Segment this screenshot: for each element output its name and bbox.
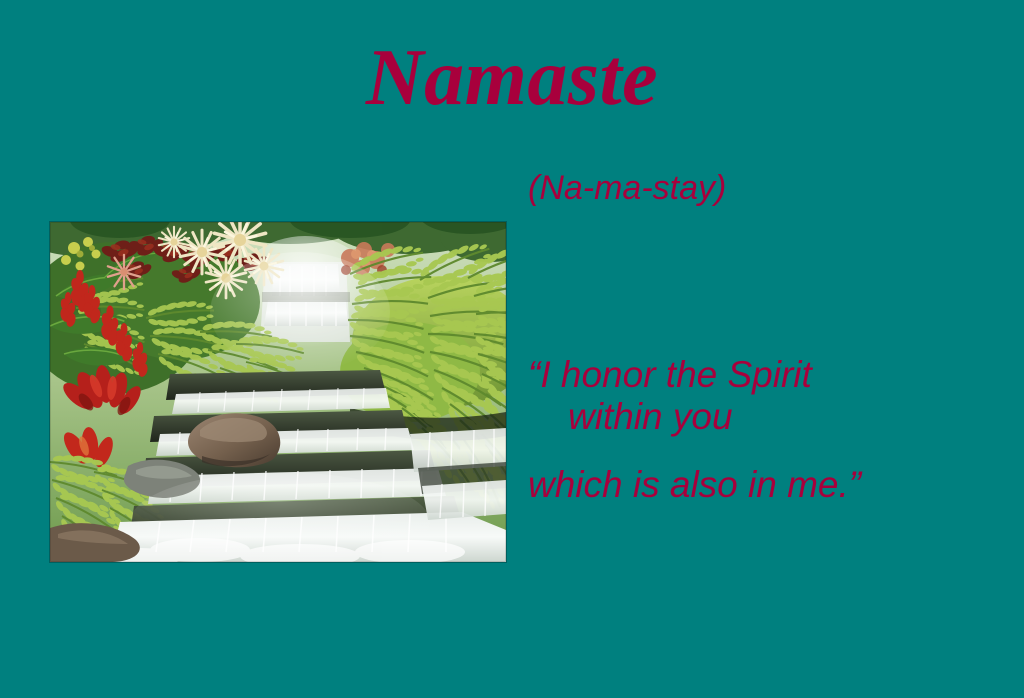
pronunciation-subtitle: (Na-ma-stay) (528, 170, 726, 207)
waterfall-illustration (50, 222, 506, 562)
tropical-waterfall-photo (50, 222, 506, 562)
quote-line-1: “I honor the Spirit (528, 354, 998, 396)
quote-line-2: within you (528, 396, 998, 438)
slide-canvas: Namaste (Na-ma-stay) “I honor the Spirit… (0, 0, 1024, 698)
quote-line-3: which is also in me.” (528, 464, 998, 506)
page-title: Namaste (0, 38, 1024, 118)
quote-block: “I honor the Spirit within you which is … (528, 354, 998, 507)
